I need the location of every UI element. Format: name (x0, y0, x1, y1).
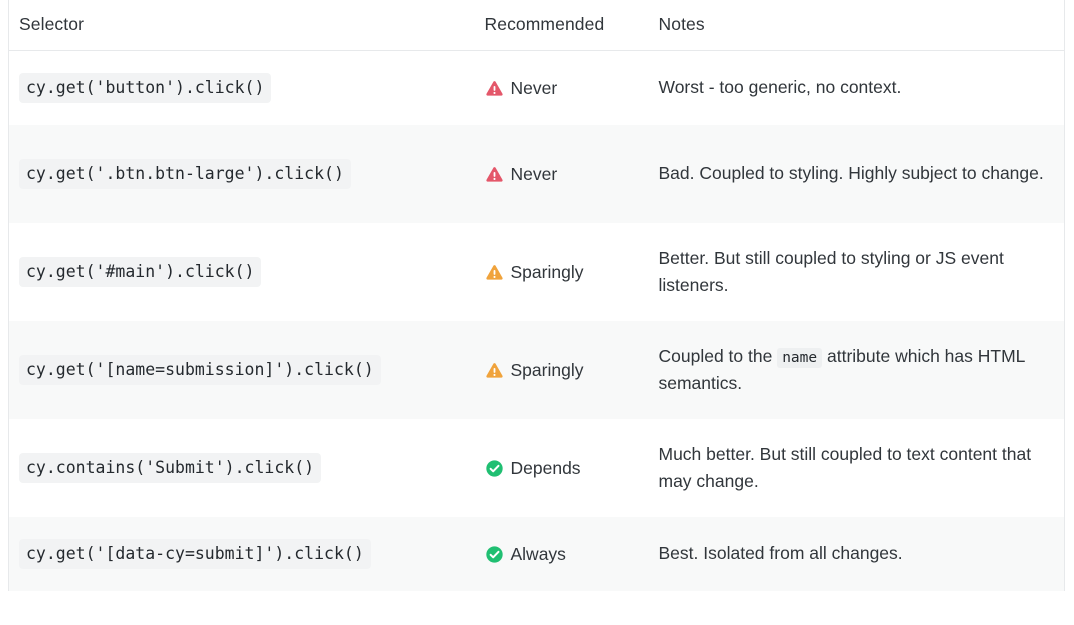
cell-recommended: Always (473, 517, 651, 591)
selector-code-chip: cy.get('button').click() (19, 73, 271, 104)
column-header-selector: Selector (9, 0, 473, 51)
cell-recommended: Sparingly (473, 321, 651, 419)
table-body: cy.get('button').click()NeverWorst - too… (9, 51, 1065, 592)
recommendation-badge: Sparingly (485, 262, 645, 283)
check-circle-icon (485, 459, 504, 478)
cell-selector: cy.get('[data-cy=submit]').click() (9, 517, 473, 591)
cell-notes: Better. But still coupled to styling or … (651, 223, 1065, 321)
notes-text: Much better. But still coupled to text c… (659, 441, 1051, 495)
recommendation-label: Always (511, 544, 566, 565)
notes-text: Bad. Coupled to styling. Highly subject … (659, 160, 1051, 187)
selector-code-chip: cy.get('.btn.btn-large').click() (19, 159, 351, 190)
notes-inline-code: name (777, 348, 822, 368)
table-header: Selector Recommended Notes (9, 0, 1065, 51)
cell-recommended: Never (473, 51, 651, 126)
recommendation-badge: Never (485, 164, 645, 185)
cell-selector: cy.get('.btn.btn-large').click() (9, 125, 473, 223)
recommendation-label: Sparingly (511, 360, 584, 381)
recommendation-badge: Sparingly (485, 360, 645, 381)
notes-text: Coupled to the name attribute which has … (659, 343, 1051, 397)
table-row: cy.get('[data-cy=submit]').click()Always… (9, 517, 1065, 591)
recommendation-label: Depends (511, 458, 581, 479)
notes-text: Best. Isolated from all changes. (659, 540, 1051, 567)
selector-best-practices-table-container: Selector Recommended Notes cy.get('butto… (0, 0, 1074, 625)
warning-triangle-icon (485, 79, 504, 98)
recommendation-label: Never (511, 78, 558, 99)
recommendation-label: Sparingly (511, 262, 584, 283)
check-circle-icon (485, 545, 504, 564)
table-row: cy.get('[name=submission]').click()Spari… (9, 321, 1065, 419)
recommendation-label: Never (511, 164, 558, 185)
cell-notes: Best. Isolated from all changes. (651, 517, 1065, 591)
recommendation-badge: Always (485, 544, 645, 565)
table-row: cy.get('#main').click()SparinglyBetter. … (9, 223, 1065, 321)
recommendation-badge: Never (485, 78, 645, 99)
warning-triangle-icon (485, 361, 504, 380)
column-header-notes: Notes (651, 0, 1065, 51)
selector-code-chip: cy.get('[name=submission]').click() (19, 355, 381, 386)
selector-code-chip: cy.contains('Submit').click() (19, 453, 321, 484)
cell-recommended: Never (473, 125, 651, 223)
selector-best-practices-table: Selector Recommended Notes cy.get('butto… (8, 0, 1065, 591)
cell-selector: cy.get('button').click() (9, 51, 473, 126)
column-header-recommended: Recommended (473, 0, 651, 51)
table-header-row: Selector Recommended Notes (9, 0, 1065, 51)
cell-selector: cy.get('#main').click() (9, 223, 473, 321)
table-row: cy.contains('Submit').click()DependsMuch… (9, 419, 1065, 517)
cell-recommended: Sparingly (473, 223, 651, 321)
cell-notes: Coupled to the name attribute which has … (651, 321, 1065, 419)
cell-notes: Worst - too generic, no context. (651, 51, 1065, 126)
recommendation-badge: Depends (485, 458, 645, 479)
warning-triangle-icon (485, 165, 504, 184)
warning-triangle-icon (485, 263, 504, 282)
cell-selector: cy.get('[name=submission]').click() (9, 321, 473, 419)
notes-text: Worst - too generic, no context. (659, 74, 1051, 101)
selector-code-chip: cy.get('#main').click() (19, 257, 261, 288)
cell-notes: Bad. Coupled to styling. Highly subject … (651, 125, 1065, 223)
cell-recommended: Depends (473, 419, 651, 517)
cell-selector: cy.contains('Submit').click() (9, 419, 473, 517)
table-row: cy.get('.btn.btn-large').click()NeverBad… (9, 125, 1065, 223)
cell-notes: Much better. But still coupled to text c… (651, 419, 1065, 517)
notes-text: Better. But still coupled to styling or … (659, 245, 1051, 299)
selector-code-chip: cy.get('[data-cy=submit]').click() (19, 539, 371, 570)
table-row: cy.get('button').click()NeverWorst - too… (9, 51, 1065, 126)
